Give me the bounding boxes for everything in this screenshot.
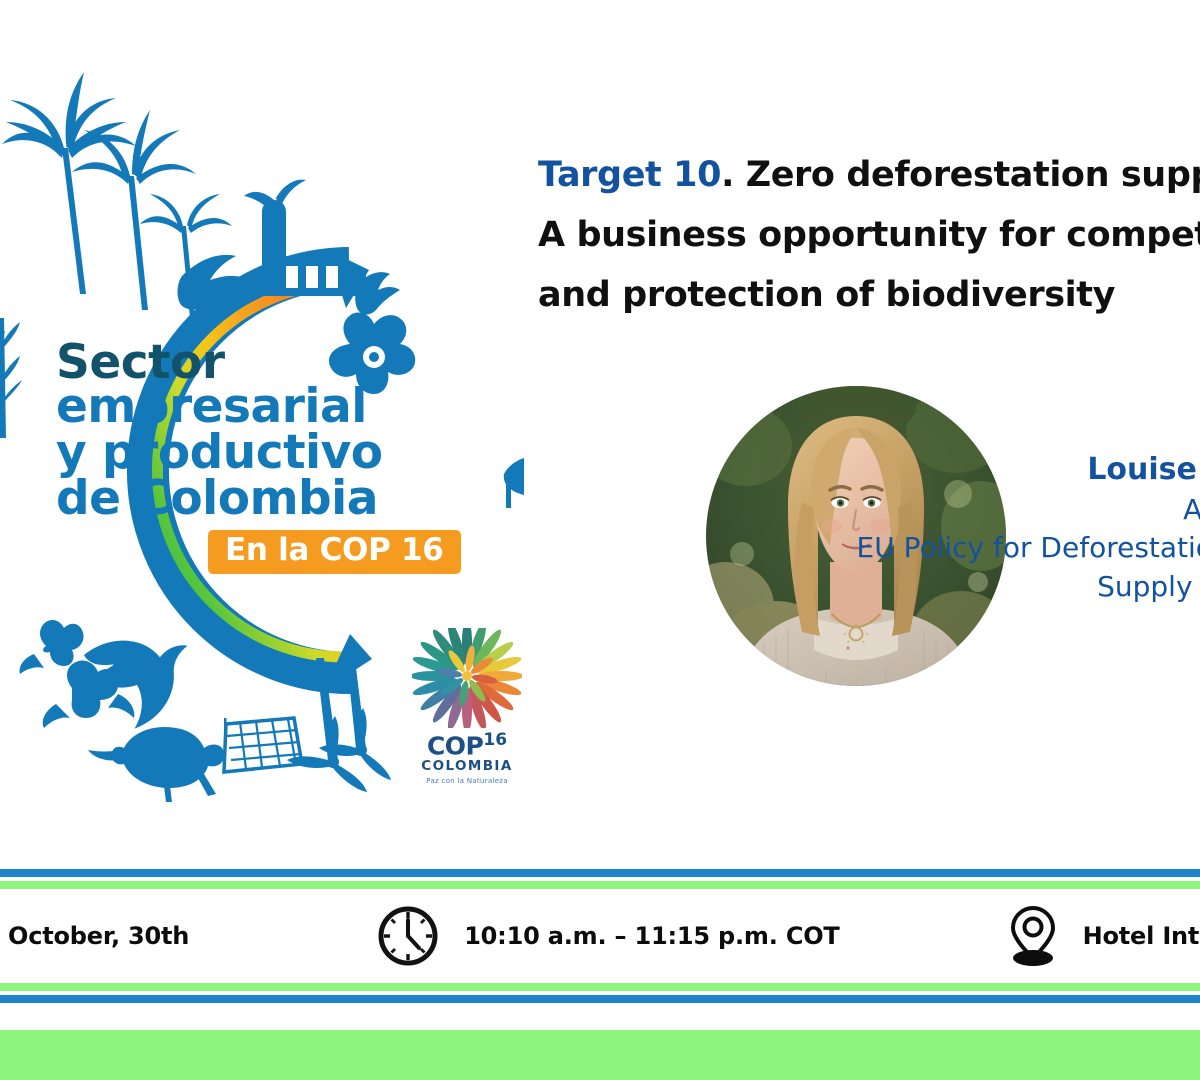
speaker-role-line-3: Supply Chains [696,568,1200,607]
title-line-2: A business opportunity for competitivene… [538,206,1200,266]
target-label: Target 10 [538,155,721,195]
cop16-colombia-logo: COP16 COLOMBIA Paz con la Naturaleza [412,628,522,783]
event-date-item: October, 30th [0,912,189,960]
wordmark-line-3: y productivo [56,430,456,476]
divider-green-bottom [0,983,1200,991]
bare-tree-icon [0,310,22,438]
cop16-flower-icon [412,628,522,728]
event-time-item: 10:10 a.m. – 11:15 p.m. COT [374,902,839,970]
title-line-1: Target 10. Zero deforestation supply cha… [538,146,1200,206]
banner-canvas: Sector empresarial y productivo de Colom… [0,0,1200,1080]
divider-blue-bottom [0,995,1200,1003]
cop16-badge: En la COP 16 [208,530,461,573]
cop16-cop-text: COP [427,731,483,760]
event-date-text: October, 30th [8,922,189,950]
speaker-role-line-2: EU Policy for Deforestation-free [696,529,1200,568]
event-time-text: 10:10 a.m. – 11:15 p.m. COT [464,922,839,950]
clock-icon [374,902,442,970]
location-pin-icon [1005,902,1061,970]
title-line-1-rest: . Zero deforestation supply chains. [721,155,1200,195]
speaker-details: Louise Hogg Analyst, EU Policy for Defor… [696,450,1200,606]
speaker-name: Louise Hogg [696,450,1200,491]
speaker-role-line-1: Analyst, [696,491,1200,530]
event-location-text: Hotel Intercontinental [1083,922,1200,950]
factory-icon [244,180,366,296]
cop16-country-text: COLOMBIA [412,759,522,774]
divider-green-top [0,881,1200,889]
brand-wordmark: Sector empresarial y productivo de Colom… [56,340,456,574]
palm-tree-tall [2,72,136,294]
footer-green-block [0,1030,1200,1080]
solar-panel-icon [224,718,302,772]
wordmark-line-2: empresarial [56,384,456,430]
event-location-item: Hotel Intercontinental [1005,902,1200,970]
cop16-wordmark: COP16 [412,732,522,758]
anteater-icon [88,727,224,802]
title-line-3: and protection of biodiversity [538,266,1200,326]
cop16-edition-number: 16 [483,730,507,750]
cop16-logo-text: COP16 COLOMBIA Paz con la Naturaleza [412,732,522,785]
tapir-icon [504,454,524,524]
divider-blue-top [0,869,1200,877]
wordmark-line-4: de Colombia [56,476,456,522]
event-info-bar: October, 30th 10:10 a.m. – 11: [0,889,1200,983]
cop16-tagline: Paz con la Naturaleza [412,776,522,785]
session-title: Target 10. Zero deforestation supply cha… [538,146,1200,326]
